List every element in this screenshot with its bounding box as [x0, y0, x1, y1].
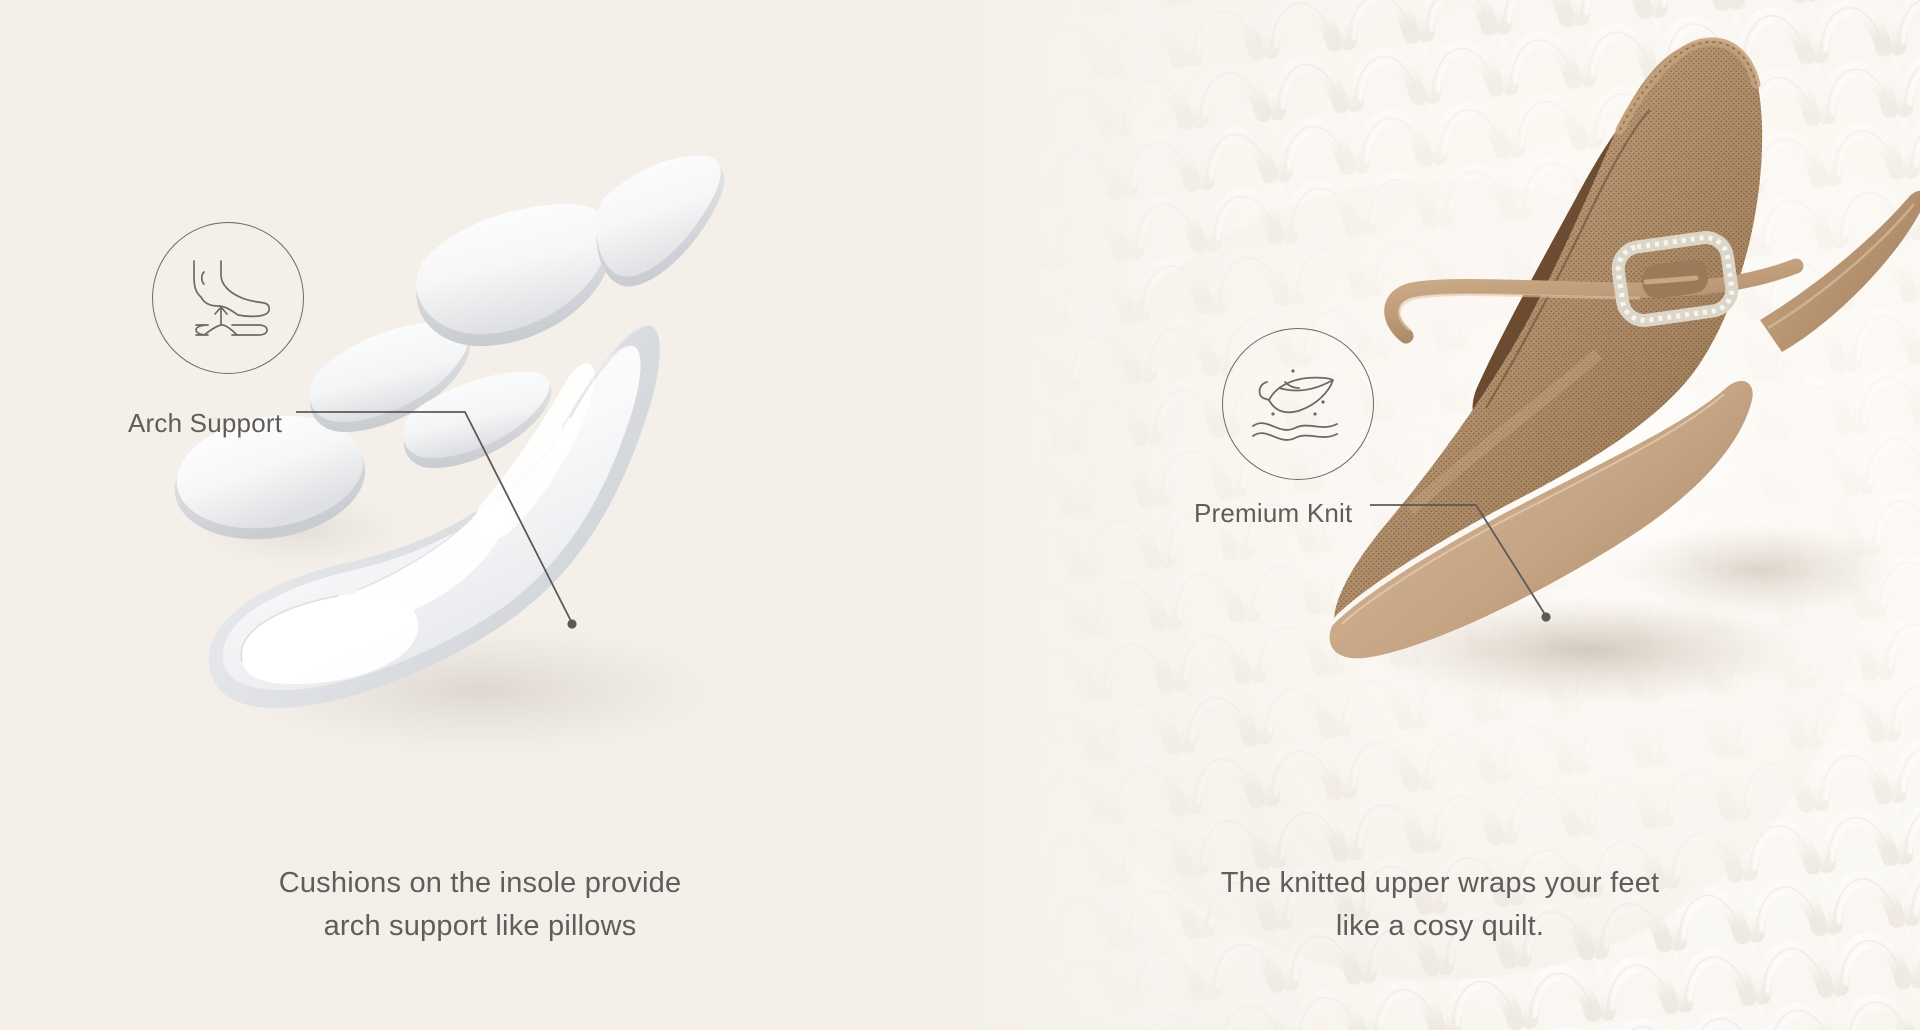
caption-knit-line1: The knitted upper wraps your feet	[960, 862, 1920, 905]
feature-comparison-stage: Arch Support Cushions on the insole prov…	[0, 0, 1920, 1030]
caption-insole: Cushions on the insole provide arch supp…	[0, 862, 960, 948]
caption-knit-line2: like a cosy quilt.	[960, 905, 1920, 948]
panel-knit-upper: Premium Knit The knitted upper wraps you…	[960, 0, 1920, 1030]
caption-insole-line2: arch support like pillows	[0, 905, 960, 948]
panel-insole-cushioning: Arch Support Cushions on the insole prov…	[0, 0, 960, 1030]
caption-insole-line1: Cushions on the insole provide	[0, 862, 960, 905]
caption-knit: The knitted upper wraps your feet like a…	[960, 862, 1920, 948]
